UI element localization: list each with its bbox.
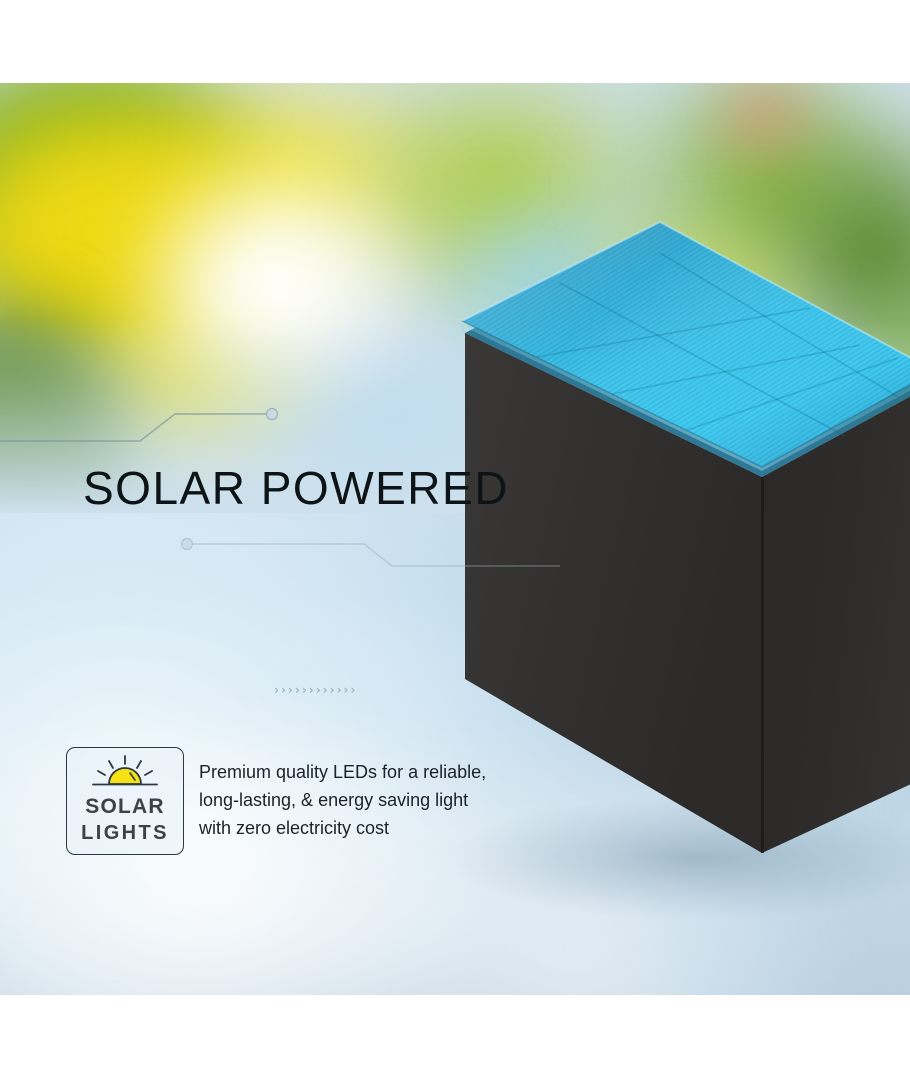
chevron-icon: › (323, 684, 328, 696)
feature-description: Premium quality LEDs for a reliable, lon… (199, 758, 519, 842)
poster-canvas: SOLAR POWERED › › › › › › › › › › › › (0, 0, 910, 1080)
product-banner: SOLAR POWERED › › › › › › › › › › › › (0, 83, 910, 995)
foliage-fade-overlay (0, 83, 910, 513)
chevron-accent-row: › › › › › › › › › › › › (274, 684, 355, 696)
feature-line: long-lasting, & energy saving light (199, 786, 519, 814)
chevron-icon: › (350, 684, 355, 696)
chevron-icon: › (302, 684, 307, 696)
sun-dome (109, 768, 141, 784)
chevron-icon: › (274, 684, 279, 696)
chevron-icon: › (309, 684, 314, 696)
chevron-icon: › (330, 684, 335, 696)
chevron-icon: › (288, 684, 293, 696)
logo-text-solar: SOLAR (85, 796, 165, 817)
feature-line: Premium quality LEDs for a reliable, (199, 758, 519, 786)
chevron-icon: › (281, 684, 286, 696)
chevron-icon: › (316, 684, 321, 696)
chevron-icon: › (344, 684, 349, 696)
logo-text-lights: LIGHTS (81, 823, 169, 843)
solar-lights-logo-badge: SOLAR LIGHTS (66, 747, 184, 855)
chevron-icon: › (295, 684, 300, 696)
feature-line: with zero electricity cost (199, 814, 519, 842)
blurred-foliage-backdrop (0, 83, 910, 513)
chevron-icon: › (337, 684, 342, 696)
sun-rays-icon (79, 754, 171, 792)
page-title: SOLAR POWERED (83, 461, 509, 515)
